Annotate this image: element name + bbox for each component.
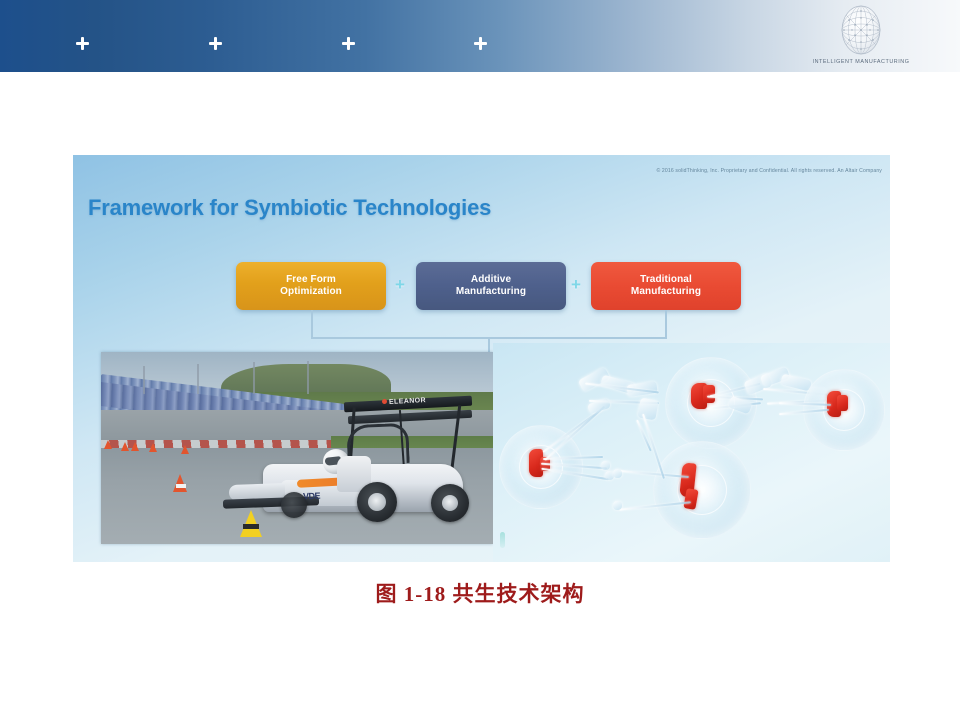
photo-cone-small: [181, 445, 189, 454]
plus-marker-icon-1: [76, 37, 89, 50]
connector-line-right: [665, 310, 667, 338]
slide-figure: © 2016 solidThinking, Inc. Proprietary a…: [73, 155, 890, 562]
technology-box-additive-manufacturing: Additive Manufacturing: [416, 262, 566, 310]
plus-separator-icon-2: +: [569, 278, 583, 292]
header-band: INTELLIGENT MANUFACTURING: [0, 0, 960, 72]
photo-cone-orange: [173, 474, 187, 492]
photo-fence-post: [307, 361, 309, 394]
photo-cone-band: [176, 484, 186, 488]
car-rim-front: [442, 495, 458, 511]
suspension-upright: [637, 398, 658, 421]
technology-box-free-form-optimization: Free Form Optimization: [236, 262, 386, 310]
car-rim-rear: [368, 493, 386, 511]
photo-fence-post: [143, 366, 145, 394]
suspension-joint: [613, 501, 622, 510]
photo-fence-post: [253, 362, 255, 394]
technology-boxes-row: Free Form Optimization + Additive Manufa…: [73, 262, 890, 312]
figure-title: Framework for Symbiotic Technologies: [88, 195, 491, 221]
race-car-photo: ELEANOR VDE: [101, 352, 493, 544]
plus-separator-icon-1: +: [393, 278, 407, 292]
plus-marker-icon-3: [342, 37, 355, 50]
photo-cone-band-dark: [243, 524, 259, 529]
photo-fence-post: [197, 364, 199, 394]
box-label-line1: Additive: [456, 274, 526, 287]
globe-mesh-icon: [838, 2, 884, 58]
box-label-line2: Manufacturing: [631, 286, 701, 299]
box-label-line1: Free Form: [280, 274, 342, 287]
technology-box-traditional-manufacturing: Traditional Manufacturing: [591, 262, 741, 310]
brand-name-label: INTELLIGENT MANUFACTURING: [806, 59, 916, 65]
brake-caliper-body: [837, 395, 848, 411]
connector-line-left: [311, 310, 313, 338]
plus-marker-icon-2: [209, 37, 222, 50]
pushrod: [642, 414, 665, 479]
figure-caption: 图 1-18 共生技术架构: [0, 578, 960, 608]
photo-cone-small: [131, 442, 139, 451]
pushrod-link: [780, 374, 812, 392]
car-wheel-far: [281, 492, 307, 518]
photo-cone-small: [149, 443, 157, 452]
suspension-joint: [601, 461, 610, 470]
suspension-joint: [613, 469, 622, 478]
figure-copyright-text: © 2016 solidThinking, Inc. Proprietary a…: [656, 168, 882, 174]
render-watermark: [500, 532, 505, 548]
box-label-line1: Traditional: [631, 274, 701, 287]
box-label-line2: Manufacturing: [456, 286, 526, 299]
box-label-line2: Optimization: [280, 286, 342, 299]
brand-logo-group: INTELLIGENT MANUFACTURING: [806, 2, 916, 65]
photo-cone-small: [121, 442, 129, 451]
plus-marker-icon-4: [474, 37, 487, 50]
cad-suspension-render: [493, 343, 890, 562]
photo-cone-small: [104, 440, 112, 449]
